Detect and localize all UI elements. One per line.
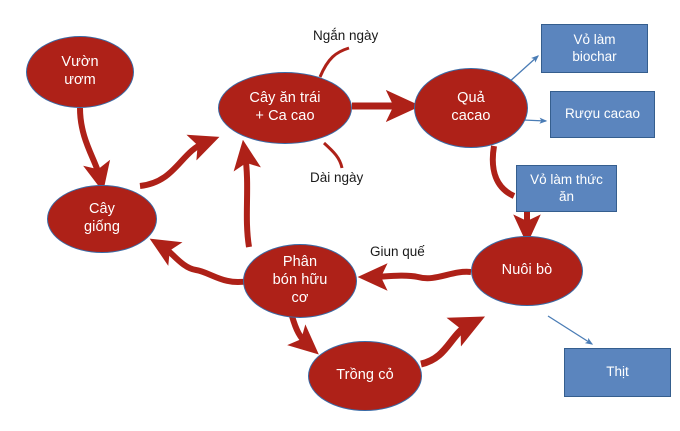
connector-phan-bon-to-cay-an-trai [245, 154, 249, 247]
connector-vuon-uom-to-cay-giong [80, 108, 100, 178]
connector-cay-giong-to-cay-an-trai [140, 142, 206, 186]
node-thit[interactable]: Thịt [564, 348, 671, 397]
edge-label-ngan-ngay: Ngắn ngày [313, 28, 378, 44]
diagram-canvas: Vườnươm Câygiống Cây ăn trái+ Ca cao Quả… [0, 0, 680, 431]
connector-qua-cacao-to-ruou-cacao [523, 120, 546, 121]
node-label: Rượu cacao [565, 106, 640, 123]
connector-qua-cacao-to-vo-lam-thuc-an [493, 146, 514, 196]
node-qua-cacao[interactable]: Quảcacao [414, 68, 528, 148]
node-label: Vỏ làmbiochar [572, 32, 616, 66]
connector-qua-cacao-to-biochar [508, 56, 538, 83]
node-label: Thịt [606, 364, 629, 381]
connector-nuoi-bo-to-thit [548, 316, 592, 344]
node-label: Quảcacao [451, 90, 490, 125]
node-cay-giong[interactable]: Câygiống [47, 185, 157, 253]
node-ruou-cacao[interactable]: Rượu cacao [550, 91, 655, 138]
connector-phan-bon-to-cay-giong [162, 246, 248, 282]
node-vo-lam-biochar[interactable]: Vỏ làmbiochar [541, 24, 648, 73]
node-label: Câygiống [84, 201, 120, 236]
leader-dai-ngay [324, 143, 342, 168]
node-label: Trồng cỏ [336, 367, 393, 385]
node-label: Nuôi bò [502, 262, 553, 280]
node-label: Phânbón hữucơ [273, 254, 328, 307]
node-nuoi-bo[interactable]: Nuôi bò [471, 236, 583, 306]
node-label: Vườnươm [61, 54, 98, 89]
edge-label-giun-que: Giun quế [370, 244, 425, 260]
node-cay-an-trai-ca-cao[interactable]: Cây ăn trái+ Ca cao [218, 72, 352, 144]
leader-ngan-ngay [320, 48, 349, 77]
node-vuon-uom[interactable]: Vườnươm [26, 36, 134, 108]
connector-trong-co-to-nuoi-bo [421, 324, 470, 364]
node-label: Cây ăn trái+ Ca cao [249, 90, 320, 125]
connector-nuoi-bo-to-phan-bon [372, 272, 471, 278]
node-vo-lam-thuc-an[interactable]: Vỏ làm thứcăn [516, 165, 617, 212]
node-phan-bon-huu-co[interactable]: Phânbón hữucơ [243, 244, 357, 318]
connector-phan-bon-to-trong-co [292, 316, 308, 345]
node-label: Vỏ làm thứcăn [530, 172, 603, 206]
edge-label-dai-ngay: Dài ngày [310, 170, 363, 186]
node-trong-co[interactable]: Trồng cỏ [308, 341, 422, 411]
